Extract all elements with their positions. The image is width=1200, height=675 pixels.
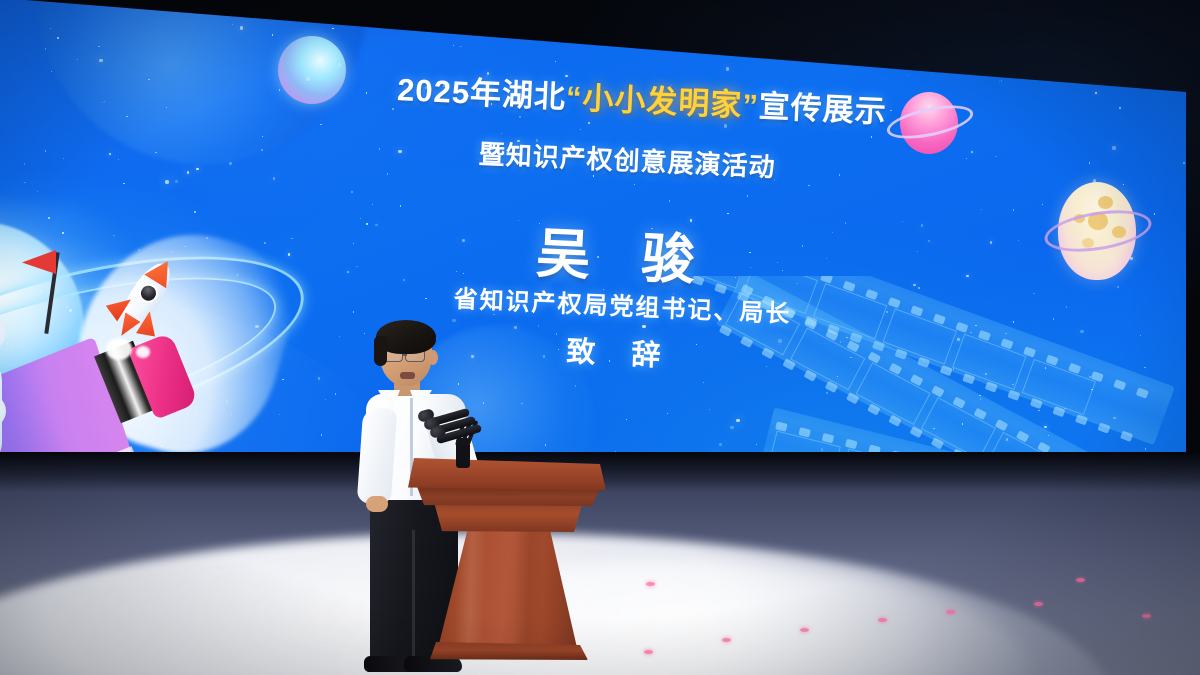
floor-marker-dot — [1142, 614, 1151, 618]
hand-left — [366, 496, 388, 512]
floor-marker-dot — [646, 582, 655, 586]
mouth — [400, 372, 415, 379]
floor-marker-dot — [878, 618, 887, 622]
floor-marker-dot — [800, 628, 809, 632]
floor-marker-dot — [644, 650, 653, 654]
lectern-wood-grain — [438, 528, 578, 652]
floor-marker-dot — [1076, 578, 1085, 582]
ear — [428, 350, 438, 365]
floor-marker-dot — [1034, 602, 1043, 606]
event-title-highlight: 小小发明家 — [582, 81, 743, 123]
lectern-foot — [430, 642, 588, 660]
glasses-bridge — [403, 354, 407, 356]
sleeve-left — [357, 407, 398, 505]
floor-marker-dot — [722, 638, 731, 642]
lectern-neck — [432, 502, 584, 532]
wooden-lectern — [408, 450, 606, 665]
stage-scene: 2025年湖北“小小发明家”宣传展示 暨知识产权创意展演活动 吴 骏 省知识产权… — [0, 0, 1200, 675]
hair-side — [374, 336, 387, 366]
floor-marker-dot — [946, 610, 955, 614]
lectern-desktop — [408, 458, 606, 490]
